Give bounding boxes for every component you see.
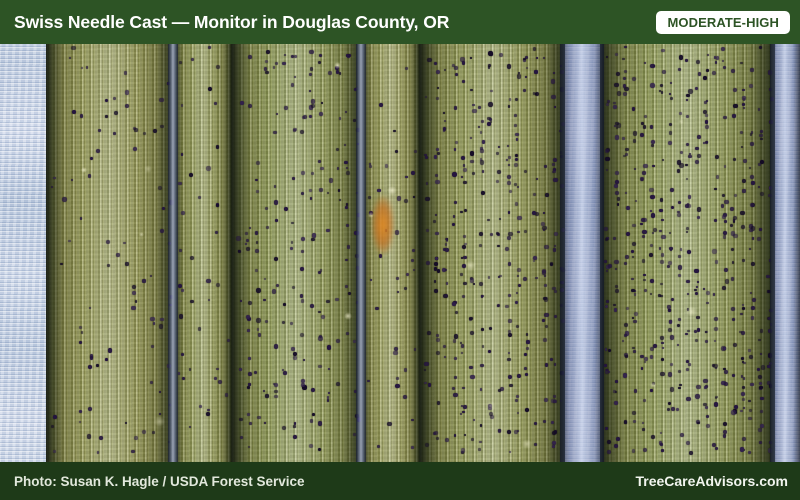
pseudothecium <box>395 384 399 388</box>
pseudothecium <box>133 147 137 151</box>
pseudothecium <box>190 300 194 304</box>
pseudothecium <box>616 72 620 76</box>
pseudothecium <box>403 395 407 399</box>
pseudothecium <box>669 320 673 324</box>
pseudothecium <box>88 174 91 177</box>
pseudothecium <box>723 235 727 239</box>
pseudothecium <box>426 261 430 265</box>
pseudothecium <box>181 211 185 215</box>
pseudothecium <box>723 66 726 69</box>
pseudothecium <box>321 315 325 319</box>
pseudothecium <box>293 435 297 439</box>
pseudothecium <box>87 434 92 439</box>
pseudothecium <box>225 393 228 396</box>
pseudothecium <box>318 61 322 65</box>
pseudothecium <box>634 293 636 295</box>
pseudothecium <box>733 88 737 92</box>
pseudothecium <box>490 90 493 93</box>
pseudothecium <box>489 118 492 121</box>
pseudothecium <box>461 352 463 354</box>
pseudothecium <box>189 173 193 177</box>
pseudothecium <box>151 345 154 348</box>
pseudothecium <box>617 197 621 201</box>
pseudothecium <box>327 399 329 401</box>
pseudothecium <box>678 274 681 277</box>
pseudothecium <box>695 394 700 399</box>
pseudothecium <box>722 194 725 197</box>
pseudothecium <box>434 155 437 158</box>
pseudothecium <box>553 400 556 403</box>
pseudothecium <box>198 327 201 330</box>
pseudothecium <box>742 437 746 441</box>
pseudothecium <box>552 445 555 448</box>
pseudothecium <box>462 80 465 83</box>
pseudothecium <box>605 305 608 308</box>
pseudothecium <box>634 312 638 316</box>
pseudothecium <box>470 160 474 164</box>
pseudothecium <box>758 163 762 167</box>
pseudothecium <box>760 410 762 412</box>
pseudothecium <box>757 368 760 371</box>
needle-gap-3 <box>560 0 604 500</box>
pseudothecium <box>712 249 716 253</box>
pseudothecium <box>309 50 314 55</box>
pseudothecium <box>444 69 446 71</box>
pseudothecium <box>310 419 314 423</box>
pseudothecium <box>632 107 635 110</box>
pseudothecium <box>606 270 608 272</box>
pseudothecium <box>274 257 278 261</box>
pseudothecium <box>518 284 521 287</box>
pseudothecium <box>108 348 112 352</box>
pseudothecium <box>748 451 751 454</box>
pseudothecia-field <box>362 0 420 500</box>
pseudothecium <box>613 304 615 306</box>
pseudothecium <box>461 156 465 160</box>
pseudothecium <box>706 424 710 428</box>
pseudothecium <box>703 288 705 290</box>
pseudothecium <box>668 372 673 377</box>
pseudothecium <box>733 216 737 220</box>
pseudothecium <box>425 443 429 447</box>
pseudothecium <box>480 388 482 390</box>
pseudothecium <box>723 422 727 426</box>
site-watermark[interactable]: TreeCareAdvisors.com <box>635 473 788 489</box>
pseudothecium <box>273 131 276 134</box>
pseudothecium <box>178 284 182 288</box>
pseudothecium <box>248 104 252 108</box>
pseudothecium <box>300 267 304 271</box>
pseudothecium <box>346 171 350 175</box>
pseudothecium <box>643 399 646 402</box>
pseudothecium <box>751 316 755 320</box>
pseudothecium <box>668 141 672 145</box>
pseudothecium <box>688 89 692 93</box>
pseudothecium <box>478 126 480 128</box>
pseudothecium <box>607 450 611 454</box>
pseudothecium <box>369 163 371 165</box>
pseudothecium <box>606 169 608 171</box>
pseudothecium <box>625 148 629 152</box>
pseudothecium <box>615 268 617 270</box>
pseudothecium <box>660 283 663 286</box>
pseudothecium <box>758 108 760 110</box>
pseudothecium <box>517 275 519 277</box>
pseudothecium <box>345 285 348 288</box>
pseudothecium <box>292 286 295 289</box>
pseudothecium <box>339 199 341 201</box>
pseudothecium <box>310 304 314 308</box>
pseudothecium <box>517 216 521 220</box>
pseudothecium <box>650 244 653 247</box>
pseudothecium <box>661 219 664 222</box>
pseudothecium <box>508 164 510 166</box>
pseudothecium <box>328 71 332 75</box>
pseudothecium <box>496 180 499 183</box>
pseudothecium <box>677 213 681 217</box>
pseudothecium <box>631 289 635 293</box>
pseudothecium <box>697 207 701 211</box>
pseudothecium <box>318 421 322 425</box>
pseudothecium <box>393 351 397 355</box>
pseudothecium <box>545 363 549 367</box>
pseudothecium <box>686 99 688 101</box>
pseudothecium <box>751 131 753 133</box>
pseudothecium <box>678 255 680 257</box>
pseudothecium <box>404 199 408 203</box>
pseudothecium <box>395 230 399 234</box>
pseudothecium <box>705 125 709 129</box>
pseudothecium <box>740 211 744 215</box>
pseudothecium <box>318 448 321 451</box>
pseudothecium <box>650 389 652 391</box>
pseudothecium <box>379 254 382 257</box>
pseudothecium <box>275 62 278 65</box>
pseudothecium <box>523 277 527 281</box>
pseudothecium <box>635 200 637 202</box>
pseudothecium <box>256 241 258 243</box>
pseudothecium <box>536 178 538 180</box>
pseudothecium <box>472 104 475 107</box>
pseudothecium <box>445 438 449 442</box>
pseudothecium <box>272 289 276 293</box>
pseudothecium <box>554 106 556 108</box>
pseudothecium <box>615 171 619 175</box>
pseudothecium <box>470 151 475 156</box>
pseudothecium <box>722 60 724 62</box>
pseudothecium <box>444 356 446 358</box>
pseudothecium <box>730 224 733 227</box>
pseudothecium <box>454 357 457 360</box>
pseudothecium <box>309 189 311 191</box>
pseudothecium <box>264 278 266 280</box>
pseudothecium <box>507 236 511 240</box>
pseudothecium <box>705 331 707 333</box>
pseudothecium <box>446 282 448 284</box>
pseudothecium <box>311 172 314 175</box>
pseudothecium <box>659 209 663 213</box>
pseudothecium <box>624 262 627 265</box>
pseudothecium <box>292 177 295 180</box>
pseudothecium <box>715 260 718 263</box>
pseudothecium <box>255 179 257 181</box>
pseudothecium <box>153 129 157 133</box>
pseudothecium <box>452 223 456 227</box>
pseudothecium <box>336 70 340 74</box>
pseudothecium <box>724 165 727 168</box>
pseudothecium <box>497 170 501 174</box>
pseudothecium <box>105 358 108 361</box>
pseudothecium <box>443 345 446 348</box>
pseudothecium <box>748 417 751 420</box>
pseudothecium <box>759 228 762 231</box>
pseudothecium <box>411 419 413 421</box>
pseudothecium <box>653 228 657 232</box>
needle-microscope-photo <box>0 0 800 500</box>
pseudothecium <box>338 189 340 191</box>
pseudothecium <box>443 112 445 114</box>
pseudothecium <box>632 224 635 227</box>
pseudothecium <box>685 59 687 61</box>
pseudothecium <box>53 177 56 180</box>
pseudothecium <box>541 222 545 226</box>
pseudothecium <box>345 259 347 261</box>
pseudothecium <box>551 421 554 424</box>
pseudothecium <box>463 168 467 172</box>
footer-bar: Photo: Susan K. Hagle / USDA Forest Serv… <box>0 462 800 500</box>
pseudothecium <box>724 220 727 223</box>
pseudothecium <box>669 232 671 234</box>
pseudothecium <box>671 298 675 302</box>
pseudothecium <box>106 240 111 245</box>
pseudothecium <box>659 230 662 233</box>
pseudothecium <box>634 389 637 392</box>
pseudothecium <box>424 369 426 371</box>
pseudothecium <box>471 438 474 441</box>
pseudothecium <box>505 305 508 308</box>
pseudothecium <box>263 390 265 392</box>
pseudothecium <box>318 311 321 314</box>
pseudothecium <box>283 371 287 375</box>
pseudothecium <box>742 89 744 91</box>
pseudothecium <box>240 436 243 439</box>
pseudothecium <box>283 303 286 306</box>
pseudothecium <box>369 165 372 168</box>
pseudothecium <box>733 158 736 161</box>
pseudothecium <box>516 138 518 140</box>
pseudothecium <box>679 112 682 115</box>
pseudothecium <box>291 241 294 244</box>
pseudothecium <box>216 204 219 207</box>
pseudothecium <box>661 449 664 452</box>
pseudothecium <box>114 111 118 115</box>
pseudothecium <box>181 153 184 156</box>
pseudothecium <box>724 200 728 204</box>
pseudothecium <box>460 273 462 275</box>
pseudothecium <box>284 54 286 56</box>
pseudothecium <box>544 313 549 318</box>
pseudothecium <box>545 325 548 328</box>
pseudothecium <box>623 84 626 87</box>
pseudothecium <box>703 76 707 80</box>
pseudothecium <box>660 372 665 377</box>
pseudothecium <box>310 67 313 70</box>
pseudothecium <box>706 141 708 143</box>
pseudothecium <box>525 408 530 413</box>
pseudothecium <box>697 154 701 158</box>
pseudothecium <box>320 269 323 272</box>
pseudothecium <box>517 412 519 414</box>
pseudothecium <box>686 227 689 230</box>
pseudothecium <box>515 399 518 402</box>
pseudothecium <box>640 133 644 137</box>
pseudothecium <box>617 91 622 96</box>
pseudothecium <box>435 174 438 177</box>
pseudothecium <box>680 151 683 154</box>
pseudothecium <box>616 437 620 441</box>
pseudothecium <box>553 72 555 74</box>
pseudothecium <box>339 117 342 120</box>
pseudothecium <box>435 214 437 216</box>
pseudothecium <box>282 62 286 66</box>
pseudothecium <box>679 55 683 59</box>
pseudothecium <box>669 123 672 126</box>
needle-6 <box>600 0 775 500</box>
pseudothecium <box>649 188 654 193</box>
pseudothecium <box>750 292 752 294</box>
pseudothecium <box>153 322 155 324</box>
pseudothecium <box>733 104 737 108</box>
pseudothecium <box>650 64 654 68</box>
pseudothecium <box>713 293 715 295</box>
pseudothecium <box>632 317 634 319</box>
pseudothecium <box>90 354 93 357</box>
pseudothecium <box>759 386 763 390</box>
pseudothecium <box>214 102 217 105</box>
pseudothecium <box>644 115 647 118</box>
pseudothecium <box>68 240 71 243</box>
pseudothecium <box>396 277 398 279</box>
pseudothecium <box>668 309 670 311</box>
specular-highlight <box>154 416 165 427</box>
pseudothecium <box>329 178 334 183</box>
pseudothecium <box>96 364 98 366</box>
pseudothecium <box>326 300 330 304</box>
pseudothecium <box>81 67 83 69</box>
pseudothecium <box>742 398 745 401</box>
pseudothecium <box>508 333 512 337</box>
pseudothecium <box>688 363 691 366</box>
pseudothecium <box>721 204 724 207</box>
pseudothecium <box>496 152 498 154</box>
pseudothecium <box>514 163 518 167</box>
pseudothecium <box>715 447 718 450</box>
pseudothecium <box>517 430 520 433</box>
pseudothecium <box>454 376 457 379</box>
pseudothecium <box>434 431 438 435</box>
pseudothecium <box>216 145 219 148</box>
pseudothecium <box>641 218 645 222</box>
pseudothecium <box>134 128 137 131</box>
pseudothecium <box>206 279 210 283</box>
pseudothecium <box>516 395 519 398</box>
pseudothecium <box>470 137 472 139</box>
pseudothecium <box>751 262 755 266</box>
pseudothecium <box>498 146 500 148</box>
pseudothecium <box>758 375 762 379</box>
pseudothecium <box>462 411 465 414</box>
pseudothecium <box>696 385 700 389</box>
pseudothecium <box>248 446 250 448</box>
pseudothecium <box>479 232 483 236</box>
pseudothecium <box>508 156 511 159</box>
pseudothecium <box>713 364 717 368</box>
pseudothecium <box>617 203 620 206</box>
pseudothecium <box>534 70 537 73</box>
pseudothecium <box>179 249 182 252</box>
pseudothecium <box>134 436 138 440</box>
pseudothecium <box>346 203 349 206</box>
pseudothecium <box>284 207 288 211</box>
pseudothecium <box>604 364 607 367</box>
pseudothecium <box>680 433 684 437</box>
pseudothecium <box>125 262 128 265</box>
pseudothecium <box>113 97 116 100</box>
pseudothecium <box>208 299 210 301</box>
pseudothecia-field <box>600 0 775 500</box>
pseudothecium <box>240 300 242 302</box>
pseudothecium <box>291 83 295 87</box>
pseudothecium <box>428 383 432 387</box>
pseudothecium <box>668 261 672 265</box>
pseudothecium <box>301 379 305 383</box>
pseudothecium <box>255 269 258 272</box>
pseudothecium <box>489 327 493 331</box>
pseudothecium <box>642 422 644 424</box>
pseudothecium <box>454 434 457 437</box>
pseudothecium <box>625 355 628 358</box>
pseudothecium <box>514 114 517 117</box>
pseudothecium <box>604 227 608 231</box>
pseudothecium <box>524 230 527 233</box>
pseudothecium <box>760 138 762 140</box>
pseudothecium <box>534 422 537 425</box>
pseudothecium <box>543 57 545 59</box>
pseudothecium <box>632 77 636 81</box>
pseudothecium <box>488 51 492 55</box>
pseudothecium <box>152 431 155 434</box>
pseudothecium <box>72 110 76 114</box>
pseudothecium <box>649 253 653 257</box>
pseudothecium <box>321 102 324 105</box>
pseudothecium <box>179 314 184 319</box>
pseudothecium <box>661 91 663 93</box>
pseudothecium <box>697 328 701 332</box>
pseudothecium <box>189 368 191 370</box>
pseudothecium <box>216 65 220 69</box>
pseudothecium <box>624 46 626 48</box>
pseudothecium <box>345 206 348 209</box>
pseudothecium <box>206 412 210 416</box>
pseudothecium <box>436 338 440 342</box>
pseudothecium <box>246 247 250 251</box>
pseudothecium <box>508 375 512 379</box>
pseudothecium <box>607 440 611 444</box>
pseudothecium <box>678 318 681 321</box>
pseudothecium <box>482 170 485 173</box>
pseudothecium <box>661 253 665 257</box>
pseudothecium <box>478 448 480 450</box>
